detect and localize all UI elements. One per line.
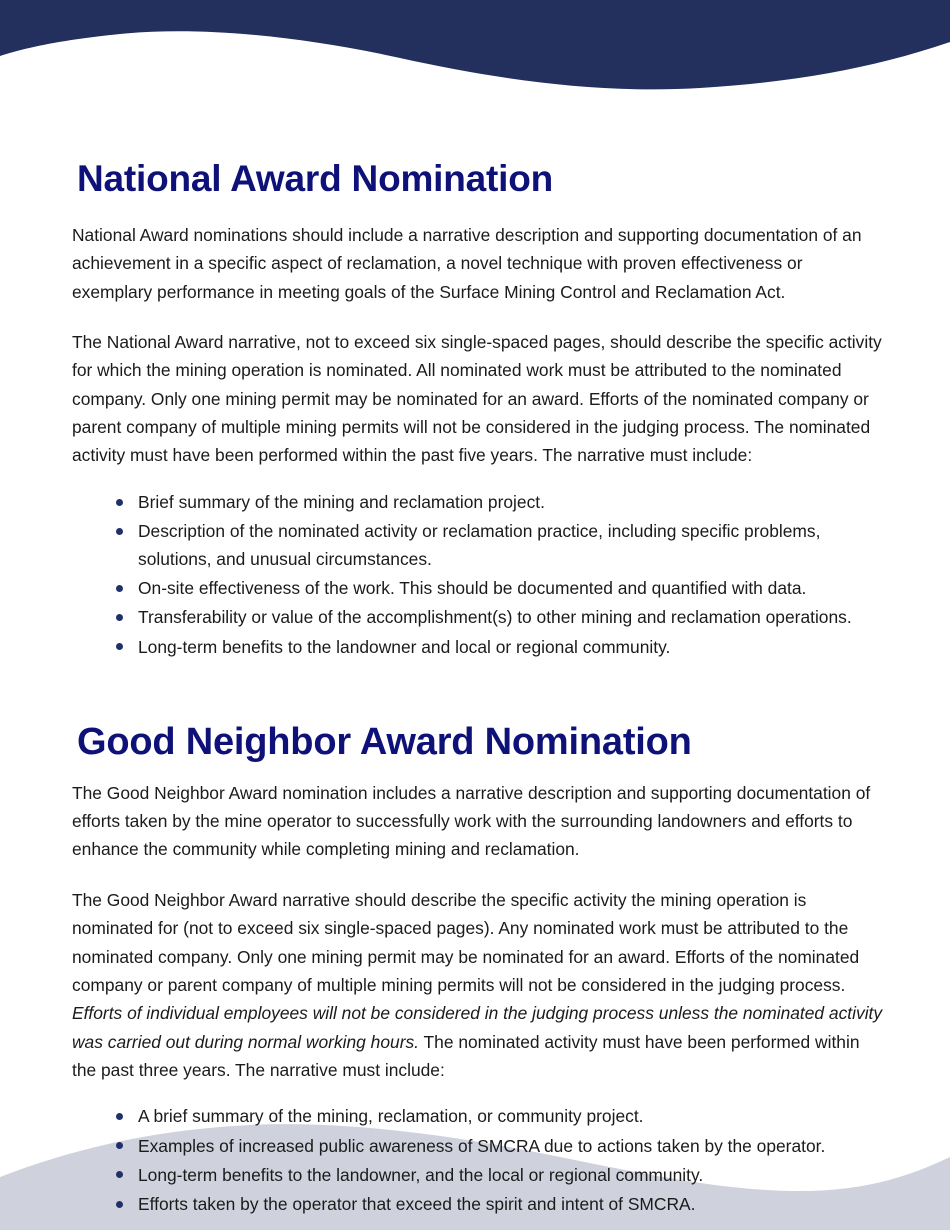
good-neighbor-paragraph-1: The Good Neighbor Award nomination inclu… bbox=[72, 779, 884, 864]
bullet-icon bbox=[116, 528, 123, 535]
list-item-label: Long-term benefits to the landowner and … bbox=[138, 637, 670, 657]
list-item: A brief summary of the mining, reclamati… bbox=[116, 1102, 890, 1130]
bullet-icon bbox=[116, 1201, 123, 1208]
section-national-award: National Award Nomination National Award… bbox=[72, 160, 890, 661]
bullet-icon bbox=[116, 1142, 123, 1149]
list-item: Description of the nominated activity or… bbox=[116, 517, 890, 573]
list-item-label: Examples of increased public awareness o… bbox=[138, 1136, 825, 1156]
list-item-label: A brief summary of the mining, reclamati… bbox=[138, 1106, 643, 1126]
bullet-icon bbox=[116, 614, 123, 621]
list-item: Efforts taken by the operator that excee… bbox=[116, 1190, 890, 1218]
list-item-label: Efforts taken by the operator that excee… bbox=[138, 1194, 695, 1214]
page-title-national-award: National Award Nomination bbox=[77, 160, 890, 199]
list-item: Transferability or value of the accompli… bbox=[116, 603, 890, 631]
section-good-neighbor-award: Good Neighbor Award Nomination The Good … bbox=[72, 723, 890, 1218]
list-item: Examples of increased public awareness o… bbox=[116, 1132, 890, 1160]
list-item-label: Long-term benefits to the landowner, and… bbox=[138, 1165, 703, 1185]
list-item-label: Transferability or value of the accompli… bbox=[138, 607, 852, 627]
national-award-paragraph-1: National Award nominations should includ… bbox=[72, 221, 884, 306]
bullet-icon bbox=[116, 499, 123, 506]
bullet-icon bbox=[116, 1113, 123, 1120]
good-neighbor-paragraph-2: The Good Neighbor Award narrative should… bbox=[72, 886, 884, 1085]
bullet-icon bbox=[116, 585, 123, 592]
list-item-label: Brief summary of the mining and reclamat… bbox=[138, 492, 545, 512]
list-item: On-site effectiveness of the work. This … bbox=[116, 574, 890, 602]
list-item-label: Description of the nominated activity or… bbox=[138, 521, 820, 569]
bullet-icon bbox=[116, 643, 123, 650]
list-item: Long-term benefits to the landowner, and… bbox=[116, 1161, 890, 1189]
page-title-good-neighbor-award: Good Neighbor Award Nomination bbox=[77, 723, 890, 763]
list-item-label: On-site effectiveness of the work. This … bbox=[138, 578, 806, 598]
list-item: Long-term benefits to the landowner and … bbox=[116, 633, 890, 661]
good-neighbor-requirements-list: A brief summary of the mining, reclamati… bbox=[72, 1102, 890, 1218]
bullet-icon bbox=[116, 1171, 123, 1178]
list-item: Brief summary of the mining and reclamat… bbox=[116, 488, 890, 516]
document-page: National Award Nomination National Award… bbox=[0, 0, 950, 1230]
national-award-paragraph-2: The National Award narrative, not to exc… bbox=[72, 328, 884, 470]
good-neighbor-paragraph-2-lead: The Good Neighbor Award narrative should… bbox=[72, 890, 859, 995]
national-award-requirements-list: Brief summary of the mining and reclamat… bbox=[72, 488, 890, 661]
